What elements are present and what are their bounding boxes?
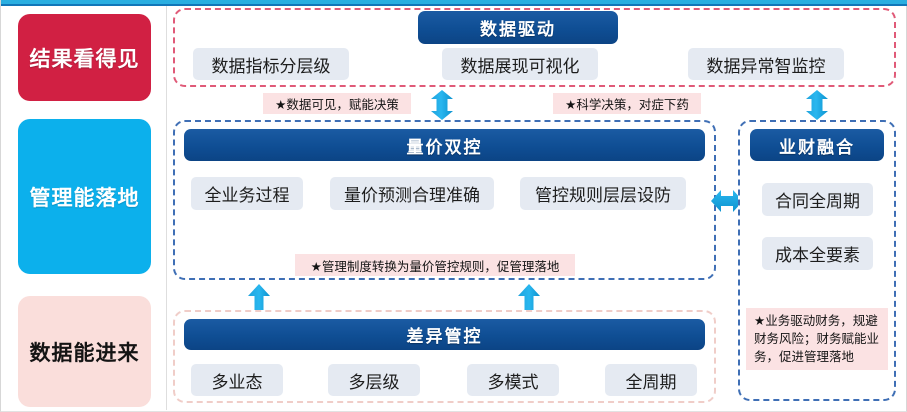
panel-middle-title-label: 量价双控 — [407, 133, 483, 158]
chip-bottom-3[interactable]: 多模式 — [467, 364, 559, 396]
rail-item-data[interactable]: 数据能进来 — [18, 296, 151, 407]
panel-right-note: ★业务驱动财务，规避财务风险；财务赋能业务，促进管理落地 — [746, 308, 888, 370]
rail-item-results[interactable]: 结果看得见 — [18, 14, 151, 101]
rail-item-label: 管理能落地 — [30, 182, 140, 212]
arrow-up-icon-right — [517, 284, 541, 310]
panel-middle-note-label: ★管理制度转换为量价管控规则，促管理落地 — [311, 256, 560, 275]
chip-bottom-4[interactable]: 全周期 — [605, 364, 697, 396]
chip-label: 全周期 — [626, 368, 677, 393]
chip-label: 管控规则层层设防 — [535, 181, 671, 206]
arrow-up-icon-left — [247, 284, 271, 310]
chip-middle-3[interactable]: 管控规则层层设防 — [520, 177, 686, 210]
double-arrow-vertical-icon — [429, 90, 455, 120]
chip-top-2[interactable]: 数据展现可视化 — [442, 48, 598, 80]
chip-middle-1[interactable]: 全业务过程 — [191, 177, 303, 210]
chip-label: 合同全周期 — [775, 187, 860, 212]
chip-label: 成本全要素 — [775, 241, 860, 266]
panel-top-title-label: 数据驱动 — [480, 15, 556, 40]
chip-top-1[interactable]: 数据指标分层级 — [193, 48, 349, 80]
chip-label: 全业务过程 — [205, 181, 290, 206]
chip-right-1[interactable]: 合同全周期 — [762, 183, 873, 216]
rail-item-label: 数据能进来 — [30, 337, 140, 367]
panel-bottom-title-label: 差异管控 — [407, 322, 483, 347]
diagram-canvas: 结果看得见 管理能落地 数据能进来 数据驱动 数据指标分层级 数据展现可视化 数… — [0, 0, 907, 412]
panel-bottom-title[interactable]: 差异管控 — [184, 319, 705, 350]
annotation-left-note: ★数据可见，赋能决策 — [263, 93, 411, 114]
chip-label: 多层级 — [349, 368, 400, 393]
panel-middle-title[interactable]: 量价双控 — [184, 129, 705, 161]
panel-right-note-label: ★业务驱动财务，规避财务风险；财务赋能业务，促进管理落地 — [754, 312, 880, 366]
annotation-right-note: ★科学决策，对症下药 — [553, 93, 701, 114]
chip-bottom-1[interactable]: 多业态 — [191, 364, 283, 396]
chip-top-3[interactable]: 数据异常智监控 — [688, 48, 844, 80]
chip-label: 多模式 — [488, 368, 539, 393]
rail-item-label: 结果看得见 — [30, 43, 140, 73]
annotation-right-note-label: ★科学决策，对症下药 — [565, 94, 689, 113]
double-arrow-vertical-icon-right — [804, 90, 830, 120]
chip-label: 量价预测合理准确 — [344, 181, 480, 206]
left-rail: 结果看得见 管理能落地 数据能进来 — [1, 6, 167, 410]
chip-bottom-2[interactable]: 多层级 — [328, 364, 420, 396]
panel-right-title-label: 业财融合 — [779, 133, 855, 158]
panel-top-title[interactable]: 数据驱动 — [418, 11, 618, 44]
panel-right-title[interactable]: 业财融合 — [750, 129, 884, 161]
rail-item-management[interactable]: 管理能落地 — [18, 119, 151, 274]
chip-label: 数据指标分层级 — [212, 52, 331, 77]
annotation-left-note-label: ★数据可见，赋能决策 — [275, 94, 399, 113]
chip-right-2[interactable]: 成本全要素 — [762, 237, 873, 270]
chip-label: 多业态 — [212, 368, 263, 393]
chip-label: 数据展现可视化 — [461, 52, 580, 77]
chip-middle-2[interactable]: 量价预测合理准确 — [330, 177, 494, 210]
chip-label: 数据异常智监控 — [707, 52, 826, 77]
panel-middle-note: ★管理制度转换为量价管控规则，促管理落地 — [295, 254, 575, 276]
